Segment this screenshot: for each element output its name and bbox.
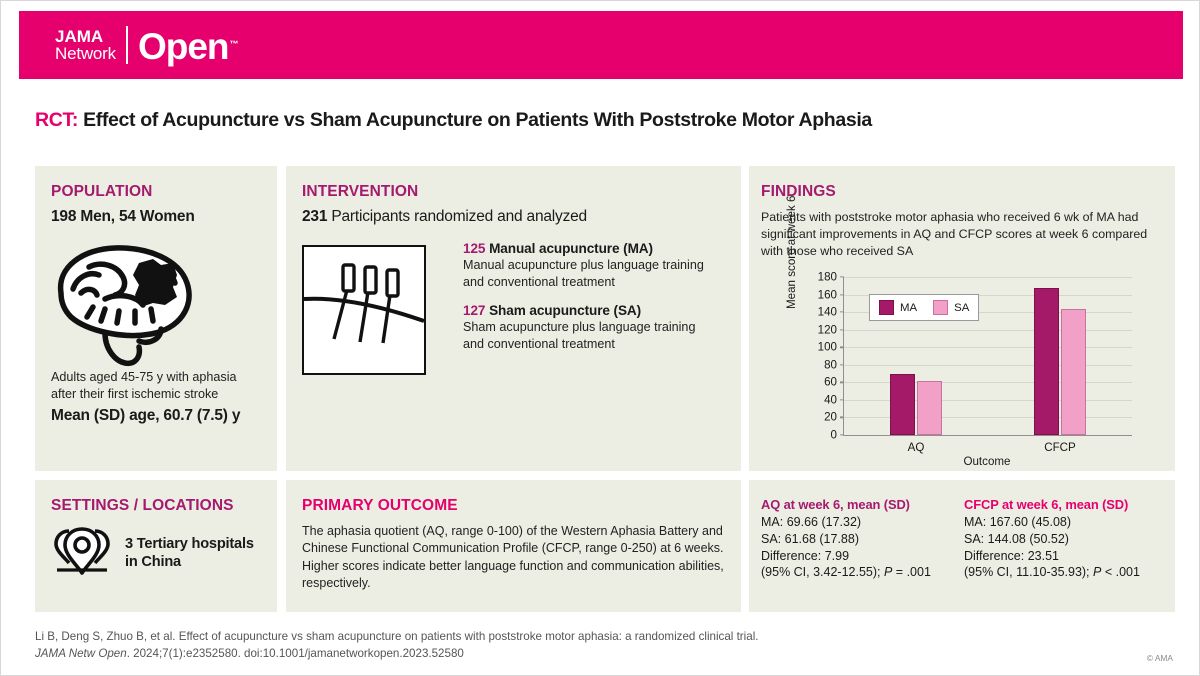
chart-legend: MA SA: [869, 294, 979, 321]
chart-y-tick-label: 120: [818, 323, 837, 336]
footer-citation: Li B, Deng S, Zhuo B, et al. Effect of a…: [35, 629, 1035, 663]
chart-y-tick-mark: [840, 329, 844, 330]
chart-gridline: [844, 330, 1132, 331]
legend-label-sa: SA: [954, 302, 969, 314]
population-heading: POPULATION: [51, 183, 261, 201]
population-note-line2: after their first ischemic stroke: [51, 386, 266, 403]
brain-with-lesion-icon: [43, 237, 213, 367]
chart-y-tick-label: 0: [831, 429, 837, 442]
chart-bar-ma-cfcp: [1034, 288, 1059, 435]
chart-x-tick-label: AQ: [908, 441, 925, 454]
chart-x-axis-label: Outcome: [843, 455, 1131, 468]
settings-line2: in China: [125, 554, 254, 572]
chart-y-tick-label: 140: [818, 306, 837, 319]
primary-outcome-heading: PRIMARY OUTCOME: [302, 497, 732, 515]
results-aq-ma: MA: 69.66 (17.32): [761, 514, 961, 531]
legend-swatch-ma-icon: [879, 300, 894, 315]
settings-heading: SETTINGS / LOCATIONS: [51, 497, 261, 515]
chart-y-axis-label: Mean score at week 6: [785, 196, 798, 309]
results-cfcp-p-value: < .001: [1101, 565, 1140, 579]
findings-header-group: FINDINGS Patients with poststroke motor …: [761, 183, 1166, 260]
arm-desc-line1: Manual acupuncture plus language trainin…: [463, 257, 733, 274]
results-cfcp-ma: MA: 167.60 (45.08): [964, 514, 1174, 531]
results-cfcp-ci: (95% CI, 11.10-35.93); P < .001: [964, 564, 1174, 581]
population-mean-age: Mean (SD) age, 60.7 (7.5) y: [51, 407, 266, 425]
chart-y-tick-mark: [840, 294, 844, 295]
chart-y-tick-mark: [840, 417, 844, 418]
arm-desc-line2: and conventional treatment: [463, 274, 733, 291]
intervention-arms: 125 Manual acupuncture (MA) Manual acupu…: [463, 241, 733, 353]
logo-open-wordmark: Open™: [138, 28, 237, 65]
arm-count: 125: [463, 241, 485, 256]
legend-item-sa: SA: [933, 300, 969, 315]
legend-label-ma: MA: [900, 302, 917, 314]
chart-y-tick-mark: [840, 311, 844, 312]
chart-y-tick-label: 80: [824, 358, 837, 371]
visual-abstract-page: JAMA Network Open™ RCT: Effect of Acupun…: [0, 0, 1200, 676]
results-aq-p-value: = .001: [892, 565, 931, 579]
chart-gridline: [844, 400, 1132, 401]
settings-line1: 3 Tertiary hospitals: [125, 536, 254, 554]
results-cfcp-column: CFCP at week 6, mean (SD) MA: 167.60 (45…: [964, 497, 1174, 581]
title-text: Effect of Acupuncture vs Sham Acupunctur…: [83, 109, 872, 131]
copyright-notice: © AMA: [1147, 653, 1173, 663]
chart-bar-ma-aq: [890, 374, 915, 435]
acupuncture-needles-icon: [302, 245, 426, 375]
results-aq-difference: Difference: 7.99: [761, 548, 961, 565]
arm-desc-line2: and conventional treatment: [463, 336, 733, 353]
chart-y-tick-label: 40: [824, 393, 837, 406]
intervention-header-group: INTERVENTION 231 Participants randomized…: [302, 183, 732, 226]
primary-outcome-description: The aphasia quotient (AQ, range 0-100) o…: [302, 523, 732, 592]
page-title: RCT: Effect of Acupuncture vs Sham Acupu…: [35, 109, 1175, 132]
legend-item-ma: MA: [879, 300, 917, 315]
results-cfcp-ci-text: (95% CI, 11.10-35.93);: [964, 565, 1093, 579]
results-cfcp-difference: Difference: 23.51: [964, 548, 1174, 565]
chart-gridline: [844, 347, 1132, 348]
results-aq-sa: SA: 61.68 (17.88): [761, 531, 961, 548]
chart-gridline: [844, 277, 1132, 278]
chart-gridline: [844, 417, 1132, 418]
findings-summary: Patients with poststroke motor aphasia w…: [761, 209, 1166, 260]
chart-y-tick-label: 20: [824, 411, 837, 424]
results-aq-column: AQ at week 6, mean (SD) MA: 69.66 (17.32…: [761, 497, 961, 581]
intervention-participants: 231 Participants randomized and analyzed: [302, 208, 732, 226]
chart-y-tick-label: 180: [818, 271, 837, 284]
population-note: Adults aged 45-75 y with aphasia after t…: [51, 369, 266, 425]
results-aq-heading: AQ at week 6, mean (SD): [761, 497, 961, 512]
participants-count: 231: [302, 208, 327, 225]
map-pins-icon: [51, 525, 113, 582]
arm-name: Manual acupuncture (MA): [489, 241, 653, 256]
jama-network-open-logo[interactable]: JAMA Network Open™: [55, 23, 237, 67]
intervention-arm: 125 Manual acupuncture (MA) Manual acupu…: [463, 241, 733, 290]
chart-y-tick-mark: [840, 276, 844, 277]
citation-journal: JAMA Netw Open: [35, 647, 127, 660]
arm-spacer: [463, 290, 733, 303]
chart-y-tick-label: 100: [818, 341, 837, 354]
settings-text: 3 Tertiary hospitals in China: [125, 536, 254, 572]
chart-bar-sa-aq: [917, 381, 942, 435]
chart-y-tick-mark: [840, 399, 844, 400]
logo-network-text: Network: [55, 45, 116, 62]
citation-line1: Li B, Deng S, Zhuo B, et al. Effect of a…: [35, 629, 1035, 646]
participants-label: Participants randomized and analyzed: [331, 208, 587, 225]
population-counts: 198 Men, 54 Women: [51, 208, 261, 226]
header-bar: JAMA Network Open™: [19, 11, 1183, 79]
chart-y-tick-mark: [840, 434, 844, 435]
legend-swatch-sa-icon: [933, 300, 948, 315]
chart-y-tick-label: 160: [818, 288, 837, 301]
arm-count: 127: [463, 303, 485, 318]
arm-title: 125 Manual acupuncture (MA): [463, 241, 733, 256]
results-aq-ci-text: (95% CI, 3.42-12.55);: [761, 565, 884, 579]
settings-content: 3 Tertiary hospitals in China: [51, 525, 254, 582]
title-rct-tag: RCT:: [35, 109, 78, 131]
findings-bar-chart: Mean score at week 6 0204060801001201401…: [791, 273, 1161, 471]
chart-gridline: [844, 382, 1132, 383]
primary-outcome-group: PRIMARY OUTCOME The aphasia quotient (AQ…: [302, 497, 732, 592]
results-cfcp-sa: SA: 144.08 (50.52): [964, 531, 1174, 548]
chart-bar-sa-cfcp: [1061, 309, 1086, 435]
logo-divider: [126, 26, 128, 64]
chart-y-tick-mark: [840, 364, 844, 365]
chart-x-tick-label: CFCP: [1044, 441, 1076, 454]
findings-heading: FINDINGS: [761, 183, 1166, 201]
logo-open-text: Open: [138, 26, 229, 67]
chart-y-tick-mark: [840, 382, 844, 383]
results-cfcp-heading: CFCP at week 6, mean (SD): [964, 497, 1174, 512]
chart-y-tick-mark: [840, 347, 844, 348]
citation-details: . 2024;7(1):e2352580. doi:10.1001/jamane…: [127, 647, 464, 660]
arm-name: Sham acupuncture (SA): [489, 303, 641, 318]
jama-network-wordmark: JAMA Network: [55, 28, 116, 62]
intervention-arm: 127 Sham acupuncture (SA) Sham acupunctu…: [463, 303, 733, 352]
intervention-heading: INTERVENTION: [302, 183, 732, 201]
population-note-line1: Adults aged 45-75 y with aphasia: [51, 369, 266, 386]
chart-gridline: [844, 365, 1132, 366]
arm-desc-line1: Sham acupuncture plus language training: [463, 319, 733, 336]
logo-jama-text: JAMA: [55, 28, 116, 45]
trademark-icon: ™: [230, 39, 238, 49]
citation-line2: JAMA Netw Open. 2024;7(1):e2352580. doi:…: [35, 646, 1035, 663]
chart-y-tick-label: 60: [824, 376, 837, 389]
results-aq-ci: (95% CI, 3.42-12.55); P = .001: [761, 564, 961, 581]
arm-title: 127 Sham acupuncture (SA): [463, 303, 733, 318]
